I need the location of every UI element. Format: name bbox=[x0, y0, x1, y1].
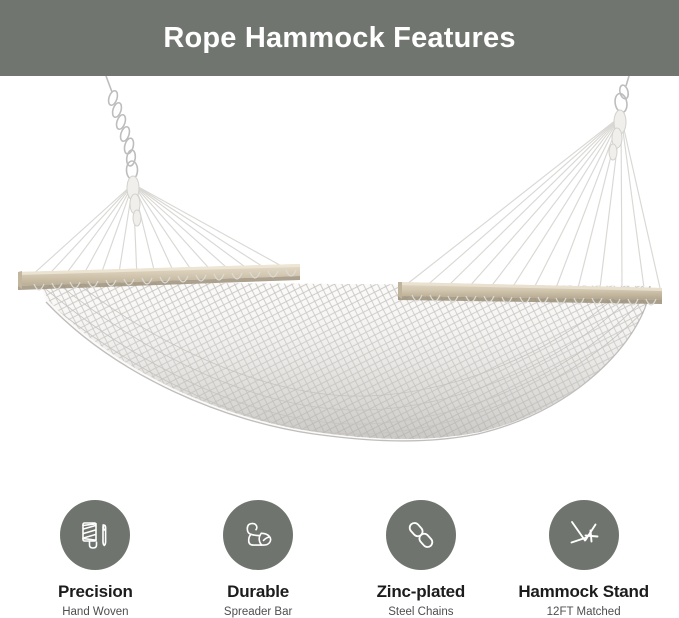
feature-title: Precision bbox=[58, 582, 133, 602]
feature-subtitle: Steel Chains bbox=[388, 606, 453, 618]
feature-row: Precision Hand Woven Durable Spreader Ba… bbox=[0, 480, 679, 615]
feature-title: Hammock Stand bbox=[518, 582, 649, 602]
feature-item-zinc-plated[interactable]: Zinc-plated Steel Chains bbox=[340, 480, 503, 618]
chain-left-icon bbox=[106, 76, 138, 179]
feature-badge-precision bbox=[60, 500, 130, 570]
feature-item-hammock-stand[interactable]: Hammock Stand 12FT Matched bbox=[502, 480, 665, 618]
thread-spool-needle-icon bbox=[76, 516, 114, 554]
feature-subtitle: Spreader Bar bbox=[224, 606, 292, 618]
feature-subtitle: 12FT Matched bbox=[547, 606, 621, 618]
feature-badge-hammock-stand bbox=[549, 500, 619, 570]
product-hero-image bbox=[0, 76, 679, 480]
hammock-stand-icon bbox=[564, 515, 604, 555]
feature-item-durable[interactable]: Durable Spreader Bar bbox=[177, 480, 340, 618]
feature-title: Durable bbox=[227, 582, 289, 602]
header-band: Rope Hammock Features bbox=[0, 0, 679, 76]
chain-link-icon bbox=[402, 516, 440, 554]
feature-badge-durable bbox=[223, 500, 293, 570]
feature-badge-zinc-plated bbox=[386, 500, 456, 570]
page-title: Rope Hammock Features bbox=[163, 22, 515, 55]
feature-item-precision[interactable]: Precision Hand Woven bbox=[14, 480, 177, 618]
rope-gather-left bbox=[127, 176, 141, 226]
feature-title: Zinc-plated bbox=[377, 582, 465, 602]
feature-subtitle: Hand Woven bbox=[62, 606, 128, 618]
chain-right-icon bbox=[614, 76, 630, 113]
hammock-illustration bbox=[0, 76, 679, 480]
flexed-bicep-icon bbox=[239, 516, 277, 554]
